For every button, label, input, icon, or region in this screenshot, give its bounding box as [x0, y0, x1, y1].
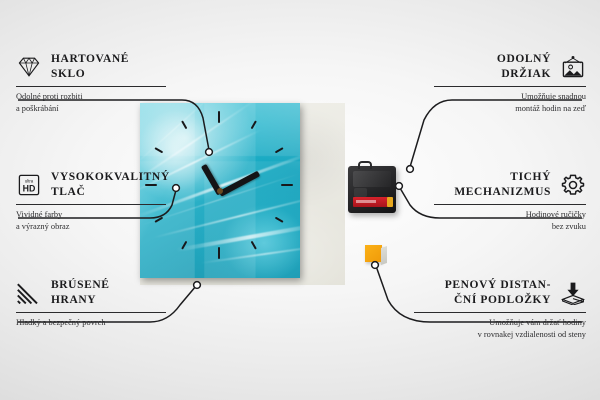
feature-desc-line1: Hodinové ručičky: [434, 209, 586, 221]
stacked-pad-arrow-icon: [560, 281, 586, 305]
feature-title-line1: ODOLNÝ: [497, 52, 551, 67]
feature-desc-line2: montáž hodin na zeď: [434, 103, 586, 115]
feature-durable-holder: ODOLNÝ DRŽIAK Umožňuje snadnou montáž ho…: [434, 52, 586, 114]
connector-endpoint-foam: [372, 262, 379, 269]
feature-description: Umožňuje snadnou montáž hodin na zeď: [434, 91, 586, 114]
wall-frame-icon: [560, 55, 586, 79]
feature-desc-line1: Odolné proti rozbiti: [16, 91, 166, 103]
feature-title-line1: PENOVÝ DISTAN-: [445, 278, 551, 293]
diamond-icon: [16, 55, 42, 79]
feature-divider: [414, 312, 586, 313]
feature-header: BRÚSENÉ HRANY: [16, 278, 166, 308]
feature-description: Umožňuje vám držať hodiny v rovnakej vzd…: [414, 317, 586, 340]
feature-desc-line2: a výrazný obraz: [16, 221, 166, 233]
feature-divider: [16, 204, 166, 205]
feature-title-line1: BRÚSENÉ: [51, 278, 110, 293]
clock-center-pin: [217, 188, 223, 194]
feature-title-line1: VYSOKOKVALITNÝ: [51, 170, 170, 185]
foam-spacer-pad: [365, 245, 382, 262]
connector-endpoint-holder: [407, 166, 414, 173]
feature-desc-line2: a poškrábání: [16, 103, 166, 115]
feature-tempered-glass: HARTOVANÉ SKLO Odolné proti rozbiti a po…: [16, 52, 166, 114]
feature-desc-line1: Vividné farby: [16, 209, 166, 221]
feature-title-line2: SKLO: [51, 67, 129, 82]
clock-tick: [218, 247, 220, 259]
hd-label: HD: [23, 183, 36, 193]
feature-description: Hodinové ručičky bez zvuku: [434, 209, 586, 232]
clock-mechanism: [348, 166, 396, 213]
feature-header: HARTOVANÉ SKLO: [16, 52, 166, 82]
feature-divider: [434, 86, 586, 87]
feature-divider: [16, 312, 166, 313]
feature-description: Hladký a bezpečný povrch: [16, 317, 166, 329]
feature-title-line2: TLAČ: [51, 185, 170, 200]
feature-description: Vividné farby a výrazný obraz: [16, 209, 166, 232]
feature-title: BRÚSENÉ HRANY: [51, 278, 110, 308]
battery-label: [356, 200, 376, 203]
feature-header: TICHÝ MECHANIZMUS: [434, 170, 586, 200]
feature-desc-line2: v rovnakej vzdialenosti od steny: [414, 329, 586, 341]
feature-title-line1: HARTOVANÉ: [51, 52, 129, 67]
polished-edges-icon: [16, 281, 42, 305]
feature-desc-line2: bez zvuku: [434, 221, 586, 233]
feature-title-line2: DRŽIAK: [497, 67, 551, 82]
feature-desc-line1: Umožňuje vám držať hodiny: [414, 317, 586, 329]
feature-title: VYSOKOKVALITNÝ TLAČ: [51, 170, 170, 200]
feature-title: ODOLNÝ DRŽIAK: [497, 52, 551, 82]
feature-description: Odolné proti rozbiti a poškrábání: [16, 91, 166, 114]
feature-high-quality-print: ultra HD VYSOKOKVALITNÝ TLAČ Vividné far…: [16, 170, 166, 232]
battery: [353, 197, 388, 207]
feature-header: ultra HD VYSOKOKVALITNÝ TLAČ: [16, 170, 166, 200]
feature-title: PENOVÝ DISTAN- ČNÍ PODLOŽKY: [445, 278, 551, 308]
feature-title-line1: TICHÝ: [454, 170, 551, 185]
feature-desc-line1: Umožňuje snadnou: [434, 91, 586, 103]
feature-title-line2: ČNÍ PODLOŽKY: [445, 293, 551, 308]
mechanism-hanger: [358, 161, 372, 169]
feature-desc-line1: Hladký a bezpečný povrch: [16, 317, 166, 329]
feature-foam-spacers: PENOVÝ DISTAN- ČNÍ PODLOŽKY Umožňuje vám…: [414, 278, 586, 340]
mechanism-post: [387, 197, 393, 207]
feature-title: HARTOVANÉ SKLO: [51, 52, 129, 82]
mechanism-emboss: [353, 171, 391, 187]
mechanism-emboss: [354, 188, 367, 197]
feature-title-line2: MECHANIZMUS: [454, 185, 551, 200]
infographic-stage: HARTOVANÉ SKLO Odolné proti rozbiti a po…: [0, 0, 600, 400]
clock-tick: [281, 184, 293, 186]
feature-divider: [434, 204, 586, 205]
product-photo: [140, 103, 345, 285]
connector-endpoint-mechanism: [396, 183, 403, 190]
gear-icon: [560, 173, 586, 197]
feature-title: TICHÝ MECHANIZMUS: [454, 170, 551, 200]
feature-header: ODOLNÝ DRŽIAK: [434, 52, 586, 82]
feature-silent-mechanism: TICHÝ MECHANIZMUS Hodinové ručičky bez z…: [434, 170, 586, 232]
feature-divider: [16, 86, 166, 87]
feature-title-line2: HRANY: [51, 293, 110, 308]
feature-polished-edges: BRÚSENÉ HRANY Hladký a bezpečný povrch: [16, 278, 166, 329]
clock-tick: [218, 111, 220, 123]
ultra-hd-icon: ultra HD: [16, 173, 42, 197]
feature-header: PENOVÝ DISTAN- ČNÍ PODLOŽKY: [414, 278, 586, 308]
